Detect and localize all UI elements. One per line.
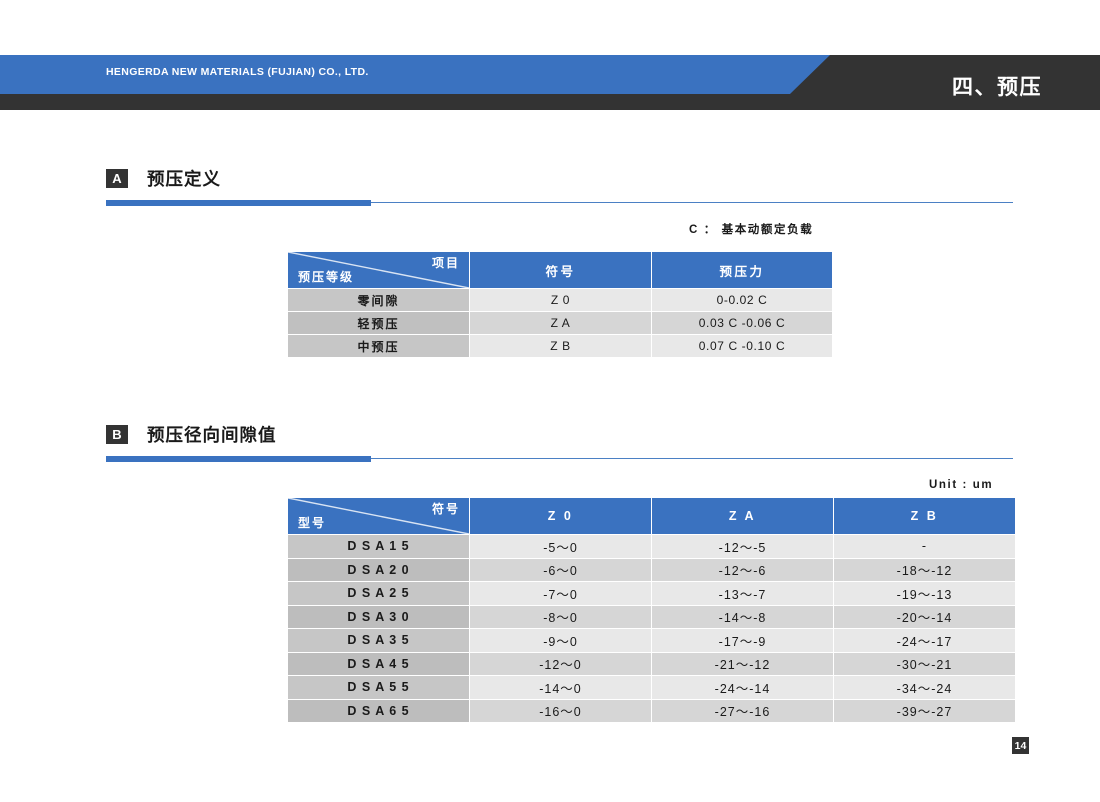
row-label: 零间隙 <box>288 289 469 311</box>
section-a-divider <box>106 200 1013 206</box>
company-name: HENGERDA NEW MATERIALS (FUJIAN) CO., LTD… <box>106 66 369 78</box>
row-label: D S A 3 0 <box>288 606 469 629</box>
column-header-zb: Z B <box>834 498 1015 534</box>
column-header-za: Z A <box>652 498 833 534</box>
column-header-force: 预压力 <box>652 252 832 288</box>
table-row: D S A 6 5 -16～0 -27～-16 -39～-27 <box>288 700 1015 723</box>
cell-zb: -20～-14 <box>834 606 1015 629</box>
chapter-title: 四、预压 <box>952 71 1042 101</box>
cell-zb: - <box>834 535 1015 558</box>
cell-za: -17～-9 <box>652 629 833 652</box>
table-header-row: 符号 型号 Z 0 Z A Z B <box>288 498 1015 534</box>
radial-clearance-table: 符号 型号 Z 0 Z A Z B D S A 1 5 -5～0 -12～-5 … <box>287 497 1016 723</box>
cell-za: -27～-16 <box>652 700 833 723</box>
cell-zb: -30～-21 <box>834 653 1015 676</box>
section-a-divider-line <box>371 202 1013 203</box>
column-header-z0: Z 0 <box>470 498 651 534</box>
row-label: D S A 1 5 <box>288 535 469 558</box>
table-row: D S A 2 5 -7～0 -13～-7 -19～-13 <box>288 582 1015 605</box>
cell-zb: -18～-12 <box>834 559 1015 582</box>
table-row: 零间隙 Z 0 0-0.02 C <box>288 289 832 311</box>
section-a: A 预压定义 <box>106 165 1013 206</box>
cell-z0: -14～0 <box>470 676 651 699</box>
section-b: B 预压径向间隙值 <box>106 421 1013 462</box>
cell-z0: -8～0 <box>470 606 651 629</box>
section-b-title: 预压径向间隙值 <box>147 422 277 447</box>
corner-bottom-left-label: 预压等级 <box>298 268 354 285</box>
table-row: D S A 4 5 -12～0 -21～-12 -30～-21 <box>288 653 1015 676</box>
load-note-caption: C ： 基本动额定负载 <box>689 221 813 237</box>
section-a-title: 预压定义 <box>147 166 221 191</box>
cell-zb: -19～-13 <box>834 582 1015 605</box>
cell-za: -13～-7 <box>652 582 833 605</box>
column-header-symbol: 符号 <box>470 252 651 288</box>
page-header: HENGERDA NEW MATERIALS (FUJIAN) CO., LTD… <box>0 55 1100 110</box>
row-label: D S A 3 5 <box>288 629 469 652</box>
cell-z0: -16～0 <box>470 700 651 723</box>
section-a-divider-bar <box>106 200 371 206</box>
cell-zb: -24～-17 <box>834 629 1015 652</box>
section-b-divider <box>106 456 1013 462</box>
cell-z0: -5～0 <box>470 535 651 558</box>
table-row: D S A 5 5 -14～0 -24～-14 -34～-24 <box>288 676 1015 699</box>
cell-zb: -39～-27 <box>834 700 1015 723</box>
corner-bottom-left-label: 型号 <box>298 514 326 531</box>
corner-top-right-label: 符号 <box>432 500 460 517</box>
section-a-heading: A 预压定义 <box>106 165 1013 191</box>
corner-header-cell: 符号 型号 <box>288 498 469 534</box>
cell-z0: -7～0 <box>470 582 651 605</box>
section-b-badge: B <box>106 425 128 444</box>
section-b-divider-line <box>371 458 1013 459</box>
row-label: D S A 2 0 <box>288 559 469 582</box>
unit-note-caption: Unit : um <box>929 479 993 491</box>
preload-definition-table: 项目 预压等级 符号 预压力 零间隙 Z 0 0-0.02 C 轻预压 Z A … <box>287 251 833 358</box>
cell-zb: -34～-24 <box>834 676 1015 699</box>
section-a-badge: A <box>106 169 128 188</box>
cell-symbol: Z B <box>470 335 651 357</box>
table-row: D S A 3 0 -8～0 -14～-8 -20～-14 <box>288 606 1015 629</box>
cell-z0: -6～0 <box>470 559 651 582</box>
row-label: D S A 4 5 <box>288 653 469 676</box>
table-row: D S A 2 0 -6～0 -12～-6 -18～-12 <box>288 559 1015 582</box>
table-header-row: 项目 预压等级 符号 预压力 <box>288 252 832 288</box>
cell-force: 0.03 C -0.06 C <box>652 312 832 334</box>
cell-z0: -9～0 <box>470 629 651 652</box>
cell-za: -14～-8 <box>652 606 833 629</box>
corner-top-right-label: 项目 <box>432 254 460 271</box>
cell-symbol: Z 0 <box>470 289 651 311</box>
section-b-divider-bar <box>106 456 371 462</box>
cell-symbol: Z A <box>470 312 651 334</box>
table-row: D S A 3 5 -9～0 -17～-9 -24～-17 <box>288 629 1015 652</box>
cell-z0: -12～0 <box>470 653 651 676</box>
row-label: D S A 5 5 <box>288 676 469 699</box>
table-row: D S A 1 5 -5～0 -12～-5 - <box>288 535 1015 558</box>
row-label: D S A 2 5 <box>288 582 469 605</box>
table-row: 轻预压 Z A 0.03 C -0.06 C <box>288 312 832 334</box>
section-b-heading: B 预压径向间隙值 <box>106 421 1013 447</box>
cell-force: 0-0.02 C <box>652 289 832 311</box>
cell-za: -24～-14 <box>652 676 833 699</box>
row-label: D S A 6 5 <box>288 700 469 723</box>
table-row: 中预压 Z B 0.07 C -0.10 C <box>288 335 832 357</box>
cell-za: -21～-12 <box>652 653 833 676</box>
row-label: 中预压 <box>288 335 469 357</box>
corner-header-cell: 项目 预压等级 <box>288 252 469 288</box>
page-number-badge: 14 <box>1012 737 1029 754</box>
cell-za: -12～-5 <box>652 535 833 558</box>
cell-force: 0.07 C -0.10 C <box>652 335 832 357</box>
cell-za: -12～-6 <box>652 559 833 582</box>
row-label: 轻预压 <box>288 312 469 334</box>
